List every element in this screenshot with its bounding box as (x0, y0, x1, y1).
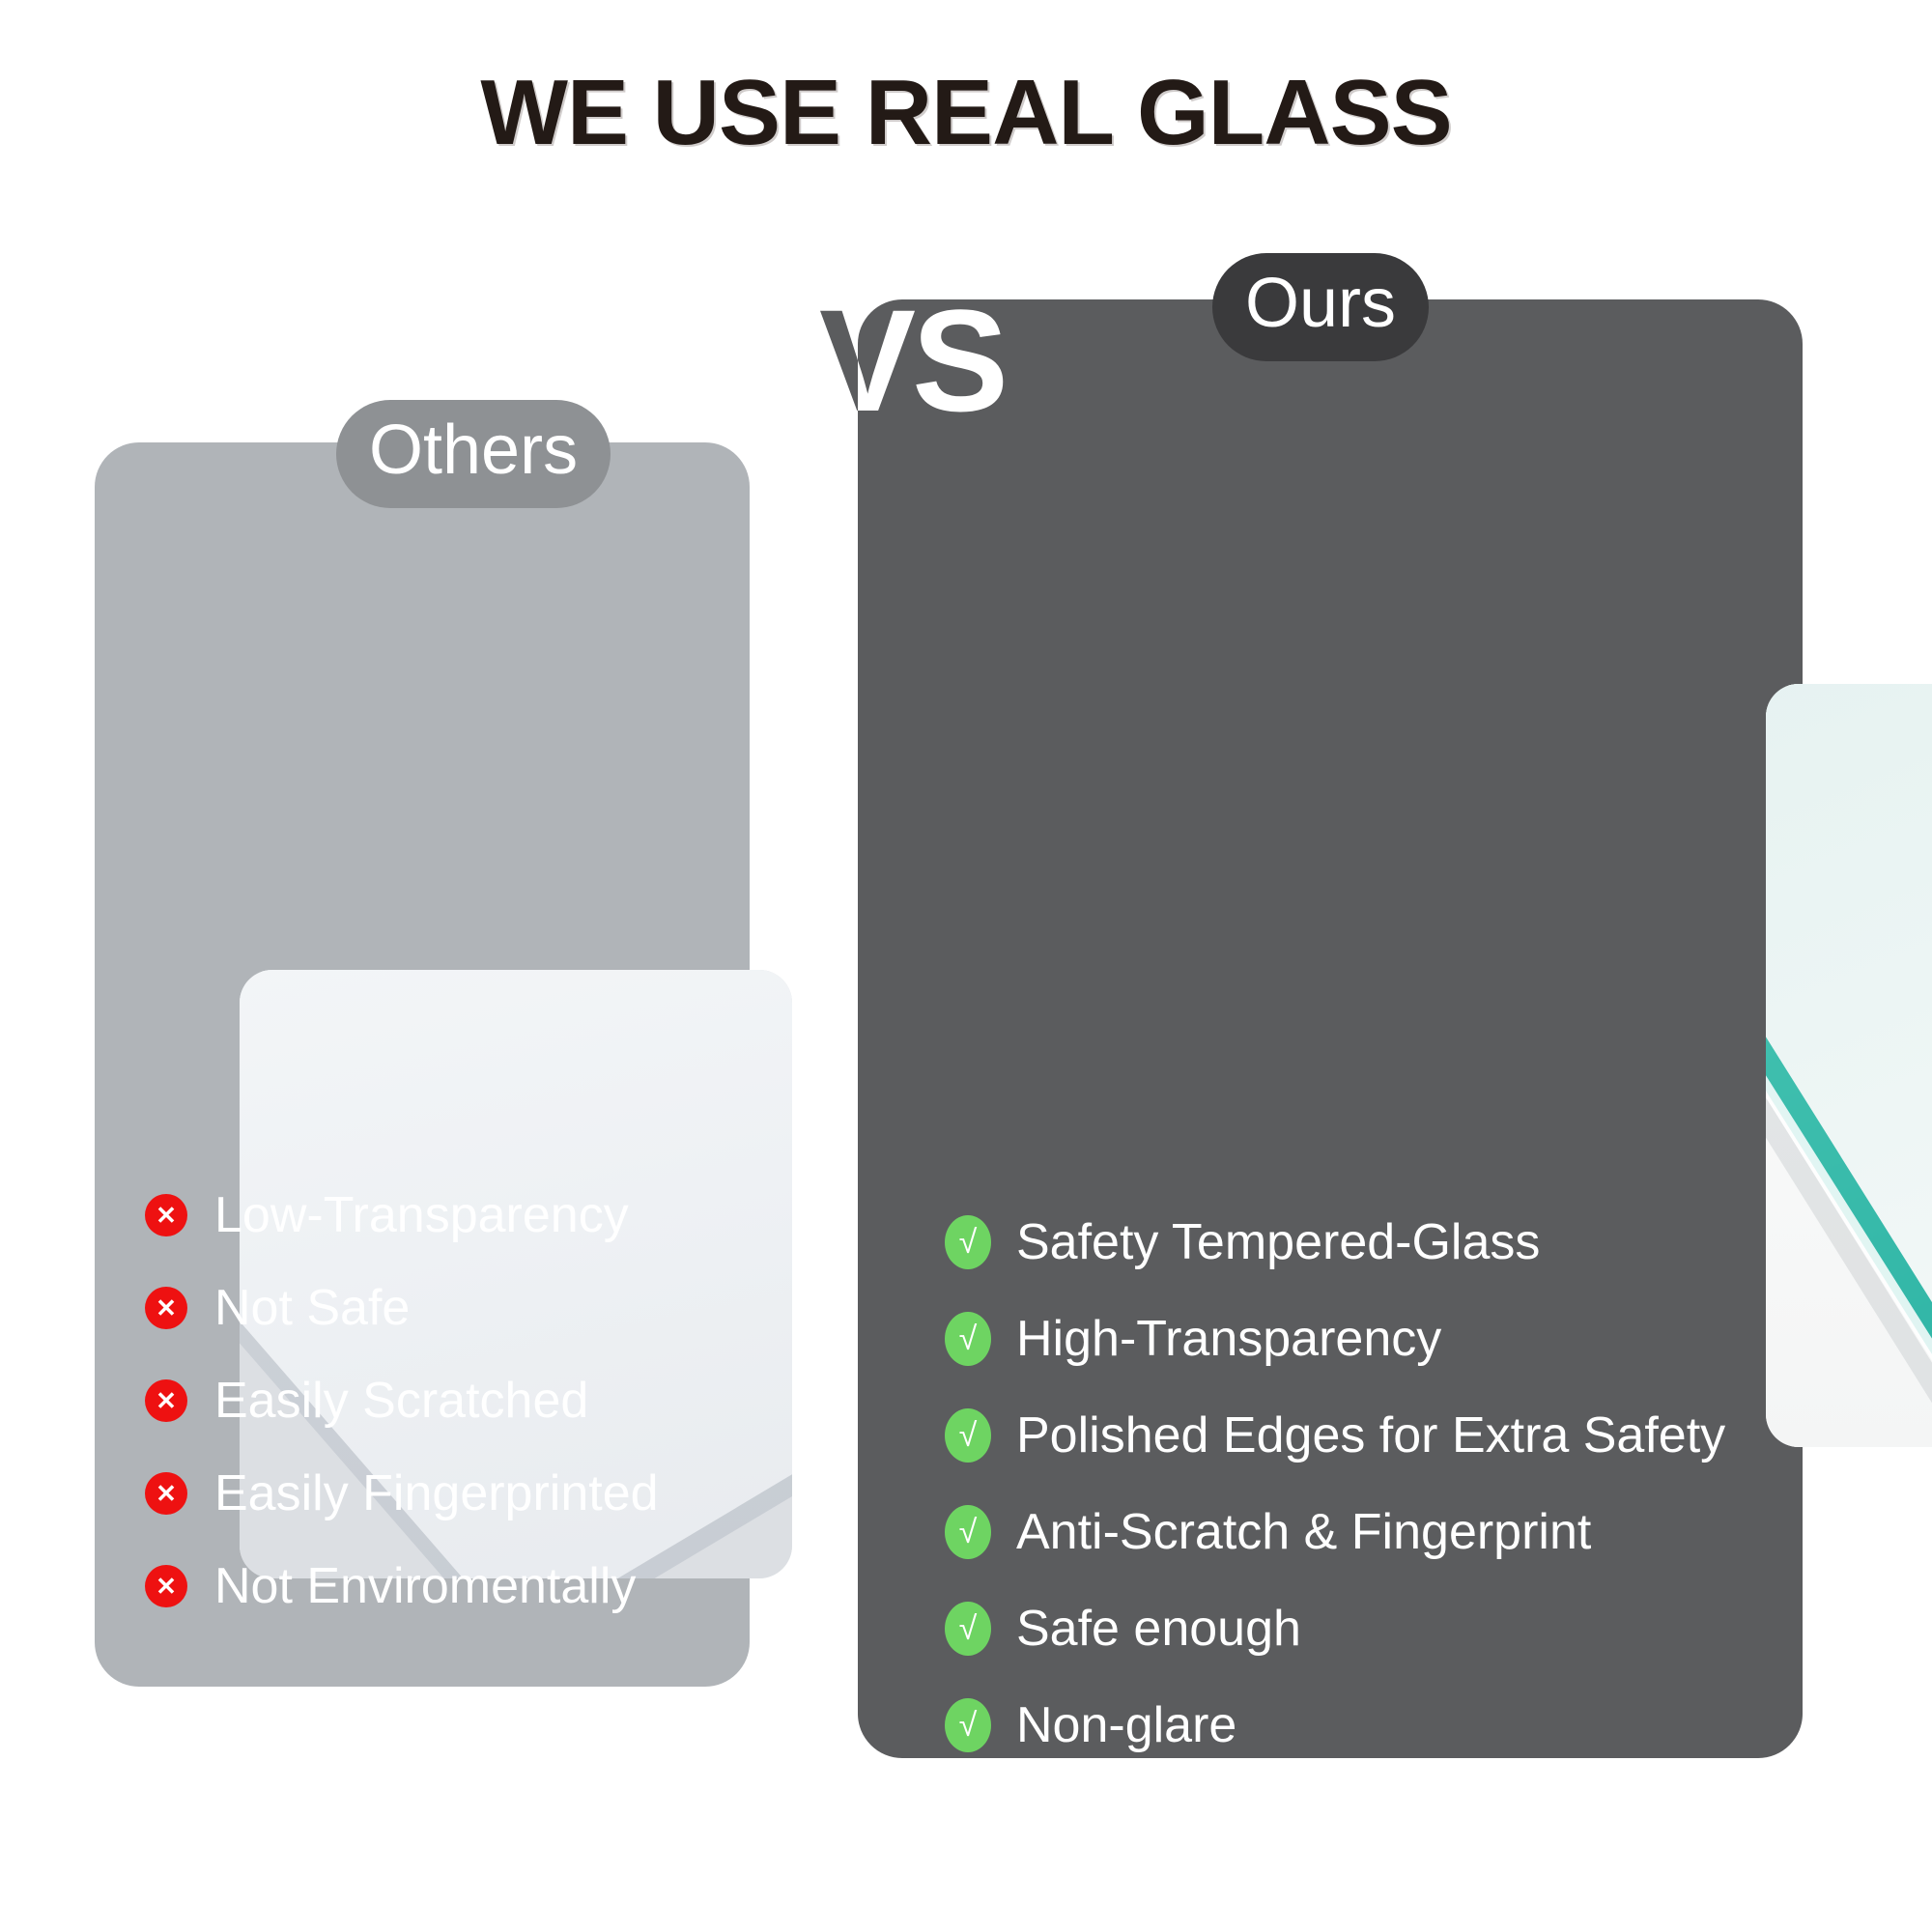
feature-label: Anti-Scratch & Fingerprint (1016, 1503, 1591, 1561)
ours-product-photo (1766, 684, 1932, 1447)
list-item: √ Non-glare (945, 1696, 1776, 1754)
cross-icon: ✕ (145, 1194, 187, 1236)
feature-label: High-Transparency (1016, 1310, 1441, 1368)
list-item: ✕ Easily Scratched (145, 1372, 724, 1430)
list-item: √ Safety Tempered-Glass (945, 1213, 1776, 1271)
ours-badge: Ours (1212, 253, 1429, 361)
list-item: ✕ Not Safe (145, 1279, 724, 1337)
cross-icon: ✕ (145, 1287, 187, 1329)
list-item: √ Safe enough (945, 1600, 1776, 1658)
list-item: √ Polished Edges for Extra Safety (945, 1406, 1776, 1464)
feature-label: Safe enough (1016, 1600, 1301, 1658)
list-item: ✕ Low-Transparency (145, 1186, 724, 1244)
feature-label: Easily Scratched (214, 1372, 588, 1430)
feature-label: Easily Fingerprinted (214, 1464, 659, 1522)
feature-label: Low-Transparency (214, 1186, 629, 1244)
list-item: ✕ Not Enviromentally (145, 1557, 724, 1615)
check-icon: √ (945, 1312, 991, 1366)
feature-label: Polished Edges for Extra Safety (1016, 1406, 1725, 1464)
feature-label: Not Enviromentally (214, 1557, 636, 1615)
ours-feature-list: √ Safety Tempered-Glass √ High-Transpare… (945, 1213, 1776, 1793)
others-badge: Others (336, 400, 611, 508)
check-icon: √ (945, 1408, 991, 1463)
vs-divider-label: VS VS (819, 288, 1005, 433)
list-item: √ High-Transparency (945, 1310, 1776, 1368)
list-item: √ Anti-Scratch & Fingerprint (945, 1503, 1776, 1561)
feature-label: Safety Tempered-Glass (1016, 1213, 1540, 1271)
feature-label: Non-glare (1016, 1696, 1236, 1754)
check-icon: √ (945, 1698, 991, 1752)
check-icon: √ (945, 1505, 991, 1559)
feature-label: Not Safe (214, 1279, 410, 1337)
page-title: WE USE REAL GLASS (0, 60, 1932, 166)
infographic-canvas: WE USE REAL GLASS Others ✕ Low-Transpare… (0, 0, 1932, 1932)
check-icon: √ (945, 1215, 991, 1269)
cross-icon: ✕ (145, 1565, 187, 1607)
cross-icon: ✕ (145, 1472, 187, 1515)
list-item: ✕ Easily Fingerprinted (145, 1464, 724, 1522)
check-icon: √ (945, 1602, 991, 1656)
cross-icon: ✕ (145, 1379, 187, 1422)
others-feature-list: ✕ Low-Transparency ✕ Not Safe ✕ Easily S… (145, 1186, 724, 1650)
